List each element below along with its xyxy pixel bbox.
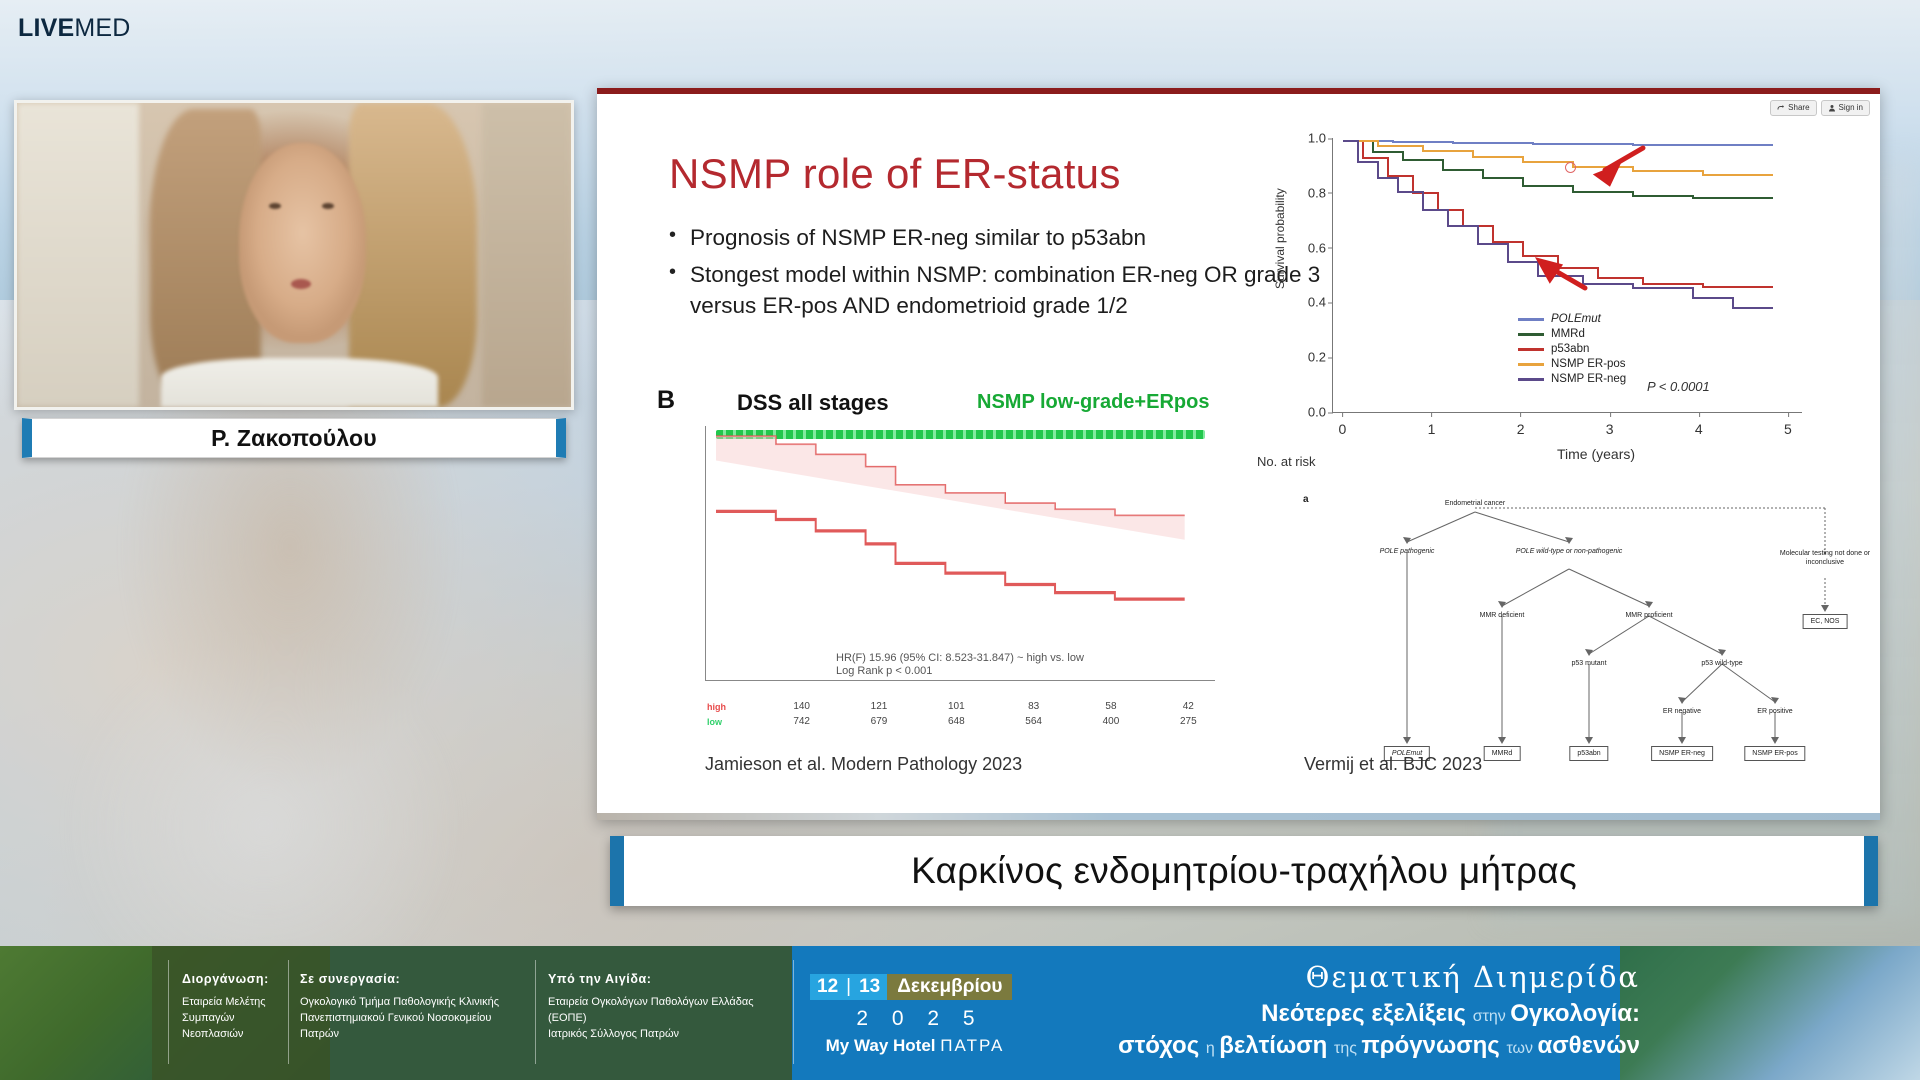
x-tick: 3 xyxy=(1606,421,1614,437)
series-label-low-grade: NSMP low-grade+ERpos xyxy=(977,391,1209,414)
event-title-line-2: Νεότερες εξελίξεις στην Ογκολογία: xyxy=(1040,1000,1640,1028)
presentation-slide[interactable]: Share Sign in NSMP role of ER-status • P… xyxy=(597,88,1880,820)
x-tick: 5 xyxy=(1784,421,1792,437)
flow-box-mmrd: MMRd xyxy=(1484,746,1521,761)
event-year: 2 0 2 5 xyxy=(820,1007,1020,1031)
risk-value: 140 xyxy=(763,699,840,714)
risk-value: 101 xyxy=(918,699,995,714)
footer-column-heading: Σε συνεργασία: xyxy=(300,972,530,986)
x-tick: 2 xyxy=(1517,421,1525,437)
kaplan-meier-chart-left: B DSS all stages NSMP low-grade+ERpos NS… xyxy=(647,384,1257,774)
footer-divider xyxy=(535,960,536,1064)
legend-label: NSMP ER-pos xyxy=(1551,358,1626,370)
risk-value: 58 xyxy=(1072,699,1149,714)
citation-left: Jamieson et al. Modern Pathology 2023 xyxy=(705,754,1022,775)
flow-box-nsmp-er-pos: NSMP ER-pos xyxy=(1744,746,1805,761)
footer-column-line: Συμπαγών Νεοπλασιών xyxy=(182,1011,282,1043)
livemed-logo: LIVEMED xyxy=(18,16,131,41)
risk-value: 42 xyxy=(1150,699,1227,714)
footer-column-line: Ιατρικός Σύλλογος Πατρών xyxy=(548,1027,788,1043)
legend-label: p53abn xyxy=(1551,343,1589,355)
flow-node-p53-wildtype: p53 wild-type xyxy=(1701,660,1742,669)
flow-node-p53-mutant: p53 mutant xyxy=(1571,660,1606,669)
x-tick: 4 xyxy=(1695,421,1703,437)
event-title-seg: πρόγνωσης xyxy=(1361,1032,1506,1059)
risk-table: high 140 121 101 83 58 42 low 742 679 64… xyxy=(707,699,1227,729)
figure-statistics-annotation: HR(F) 15.96 (95% CI: 8.523-31.847) ~ hig… xyxy=(836,652,1084,677)
flow-node-mmr-proficient: MMR proficient xyxy=(1625,612,1672,621)
event-footer-banner: Διοργάνωση: Εταιρεία Μελέτης Συμπαγών Νε… xyxy=(0,946,1920,1080)
no-at-risk-label: No. at risk xyxy=(1257,454,1316,469)
flow-node-er-positive: ER positive xyxy=(1757,708,1792,717)
event-title-line-3: στόχος η βελτίωση της πρόγνωσης των ασθε… xyxy=(1040,1032,1640,1060)
legend-item: MMRd xyxy=(1518,328,1626,340)
sign-in-label: Sign in xyxy=(1839,103,1863,113)
risk-table-row-high: high 140 121 101 83 58 42 xyxy=(707,699,1227,714)
molecular-classification-flowchart: a xyxy=(1297,494,1857,784)
figure-plot-area: Disease specific survival 1.00 0.75 0.50… xyxy=(705,426,1215,681)
km-curve-polemut xyxy=(1343,141,1773,145)
event-title-block: Θεματική Διημερίδα Νεότερες εξελίξεις στ… xyxy=(1040,960,1640,1060)
flow-box-ec-nos: EC, NOS xyxy=(1803,614,1848,629)
bullet-dot-icon: • xyxy=(669,222,676,253)
hazard-ratio-text: HR(F) 15.96 (95% CI: 8.523-31.847) ~ hig… xyxy=(836,652,1084,665)
legend-label: NSMP ER-neg xyxy=(1551,373,1626,385)
km-curve-mmrd xyxy=(1343,141,1773,198)
event-title-seg: στόχος xyxy=(1118,1032,1206,1059)
figure-title: DSS all stages xyxy=(737,390,889,416)
flow-node-pole-wildtype: POLE wild-type or non-pathogenic xyxy=(1514,548,1624,557)
y-tick: 0.8 xyxy=(1308,185,1326,200)
slide-toolbar[interactable]: Share Sign in xyxy=(1770,100,1870,116)
footer-column-heading: Διοργάνωση: xyxy=(182,972,282,986)
risk-value: 564 xyxy=(995,714,1072,729)
event-month: Δεκεμβρίου xyxy=(887,974,1012,1000)
y-tick: 0.0 xyxy=(1308,405,1326,420)
event-date-block: 12 | 13 Δεκεμβρίου 2 0 2 5 My Way Hotel … xyxy=(810,974,1020,1056)
footer-column-line: Εταιρεία Μελέτης xyxy=(182,995,282,1011)
slide-bottom-strip xyxy=(597,813,1880,820)
risk-value: 275 xyxy=(1150,714,1227,729)
flow-node-pole-pathogenic: POLE pathogenic xyxy=(1380,548,1435,557)
footer-column-organizer: Διοργάνωση: Εταιρεία Μελέτης Συμπαγών Νε… xyxy=(182,972,282,1043)
slide-title: NSMP role of ER-status xyxy=(669,150,1121,198)
p-value-annotation: P < 0.0001 xyxy=(1647,379,1710,394)
event-title-seg: βελτίωση xyxy=(1219,1032,1334,1059)
km-curve-nsmp-er-pos xyxy=(1343,141,1773,175)
event-title-seg: Νεότερες εξελίξεις xyxy=(1261,1000,1473,1027)
y-tick: 0.4 xyxy=(1308,295,1326,310)
y-axis-label: Survival probability xyxy=(1273,188,1287,289)
event-venue-name: My Way Hotel xyxy=(826,1036,941,1055)
risk-value: 121 xyxy=(840,699,917,714)
kaplan-meier-chart-right: Survival probability 1.0 0.8 0.6 0.4 0.2… xyxy=(1257,124,1857,494)
y-tick: 1.0 xyxy=(1308,131,1326,146)
flow-node-endometrial-cancer: Endometrial cancer xyxy=(1445,500,1505,509)
footer-photo-right xyxy=(1620,946,1920,1080)
flow-box-p53abn: p53abn xyxy=(1569,746,1608,761)
session-title-bar: Καρκίνος ενδομητρίου-τραχήλου μήτρας xyxy=(610,836,1878,906)
speaker-video-tile[interactable] xyxy=(14,100,574,410)
footer-divider xyxy=(288,960,289,1064)
legend-swatch-p53abn xyxy=(1518,348,1544,351)
legend-item: POLEmut xyxy=(1518,313,1626,325)
risk-row-label: high xyxy=(707,699,763,714)
event-title-seg-small: η xyxy=(1206,1040,1219,1057)
legend-item: NSMP ER-neg xyxy=(1518,373,1626,385)
event-day-2: 13 xyxy=(852,974,887,1000)
event-title-seg: ασθενών xyxy=(1537,1032,1640,1059)
speaker-name-label: Ρ. Ζακοπούλου xyxy=(211,425,377,452)
flow-node-er-negative: ER negative xyxy=(1663,708,1701,717)
bullet-text: Prognosis of NSMP ER-neg similar to p53a… xyxy=(690,222,1146,253)
footer-column-collaboration: Σε συνεργασία: Ογκολογικό Τμήμα Παθολογι… xyxy=(300,972,530,1043)
chart-legend: POLEmut MMRd p53abn NSMP ER-pos NSMP ER-… xyxy=(1518,313,1626,388)
event-venue-city: ΠΑΤΡΑ xyxy=(940,1036,1004,1055)
legend-swatch-polemut xyxy=(1518,318,1544,321)
event-title-seg-small: στην xyxy=(1473,1008,1511,1025)
event-venue: My Way Hotel ΠΑΤΡΑ xyxy=(810,1036,1020,1056)
citation-right: Vermij et al. BJC 2023 xyxy=(1304,754,1482,775)
legend-label: MMRd xyxy=(1551,328,1585,340)
legend-swatch-nsmp-er-pos xyxy=(1518,363,1544,366)
legend-label: POLEmut xyxy=(1551,313,1601,325)
figure-panel-label: B xyxy=(657,386,675,415)
bullet-dot-icon: • xyxy=(669,259,676,321)
event-day-separator: | xyxy=(845,974,852,1000)
video-background-right xyxy=(482,103,571,407)
speaker-face xyxy=(239,143,366,344)
footer-column-line: Εταιρεία Ογκολόγων Παθολόγων Ελλάδας (ΕΟ… xyxy=(548,995,788,1027)
speaker-name-plate: Ρ. Ζακοπούλου xyxy=(22,418,566,458)
footer-divider xyxy=(793,960,794,1064)
risk-table-row-low: low 742 679 648 564 400 275 xyxy=(707,714,1227,729)
event-title-line-1: Θεματική Διημερίδα xyxy=(1040,960,1640,994)
risk-value: 679 xyxy=(840,714,917,729)
annotation-arrow-lower xyxy=(1540,261,1585,288)
y-tick: 0.6 xyxy=(1308,240,1326,255)
flow-box-nsmp-er-neg: NSMP ER-neg xyxy=(1651,746,1713,761)
footer-column-line: Πανεπιστημιακού Γενικού Νοσοκομείου Πατρ… xyxy=(300,1011,530,1043)
sign-in-button[interactable]: Sign in xyxy=(1821,100,1870,116)
session-title-text: Καρκίνος ενδομητρίου-τραχήλου μήτρας xyxy=(911,850,1577,892)
footer-column-heading: Υπό την Αιγίδα: xyxy=(548,972,788,986)
risk-value: 400 xyxy=(1072,714,1149,729)
x-axis-label: Time (years) xyxy=(1557,446,1635,462)
speaker-torso xyxy=(161,358,438,407)
x-tick: 0 xyxy=(1338,421,1346,437)
annotation-circle-marker xyxy=(1565,162,1576,173)
event-title-seg-small: της xyxy=(1334,1040,1361,1057)
legend-item: NSMP ER-pos xyxy=(1518,358,1626,370)
risk-value: 648 xyxy=(918,714,995,729)
logo-bold-text: LIVE xyxy=(18,14,74,42)
flowchart-connectors xyxy=(1297,494,1857,784)
legend-swatch-nsmp-er-neg xyxy=(1518,378,1544,381)
share-button[interactable]: Share xyxy=(1770,100,1816,116)
footer-column-auspices: Υπό την Αιγίδα: Εταιρεία Ογκολόγων Παθολ… xyxy=(548,972,788,1043)
risk-value: 83 xyxy=(995,699,1072,714)
share-label: Share xyxy=(1788,103,1809,113)
km-curve-nsmp-er-neg xyxy=(1343,141,1773,308)
flow-node-mmr-deficient: MMR deficient xyxy=(1480,612,1525,621)
annotation-arrow-upper xyxy=(1598,148,1643,183)
flow-node-molecular-testing-not-done: Molecular testing not done or inconclusi… xyxy=(1770,550,1880,568)
video-background-left xyxy=(17,103,139,407)
y-tick: 0.2 xyxy=(1308,350,1326,365)
event-title-seg-small: των xyxy=(1506,1040,1537,1057)
risk-value: 742 xyxy=(763,714,840,729)
legend-swatch-mmrd xyxy=(1518,333,1544,336)
log-rank-text: Log Rank p < 0.001 xyxy=(836,665,1084,678)
x-tick: 1 xyxy=(1428,421,1436,437)
person-icon xyxy=(1828,104,1836,112)
figure-plot-area: 1.0 0.8 0.6 0.4 0.2 0.0 0 1 2 3 4 5 xyxy=(1332,138,1802,413)
logo-light-text: MED xyxy=(74,14,130,42)
km-curve-high-grade xyxy=(716,426,1205,680)
event-title-seg: Ογκολογία: xyxy=(1510,1000,1640,1027)
event-day-1: 12 xyxy=(810,974,845,1000)
footer-column-line: Ογκολογικό Τμήμα Παθολογικής Κλινικής xyxy=(300,995,530,1011)
event-date-row: 12 | 13 Δεκεμβρίου xyxy=(810,974,1020,1000)
legend-item: p53abn xyxy=(1518,343,1626,355)
footer-divider xyxy=(168,960,169,1064)
share-icon xyxy=(1777,104,1785,112)
risk-row-label: low xyxy=(707,714,763,729)
